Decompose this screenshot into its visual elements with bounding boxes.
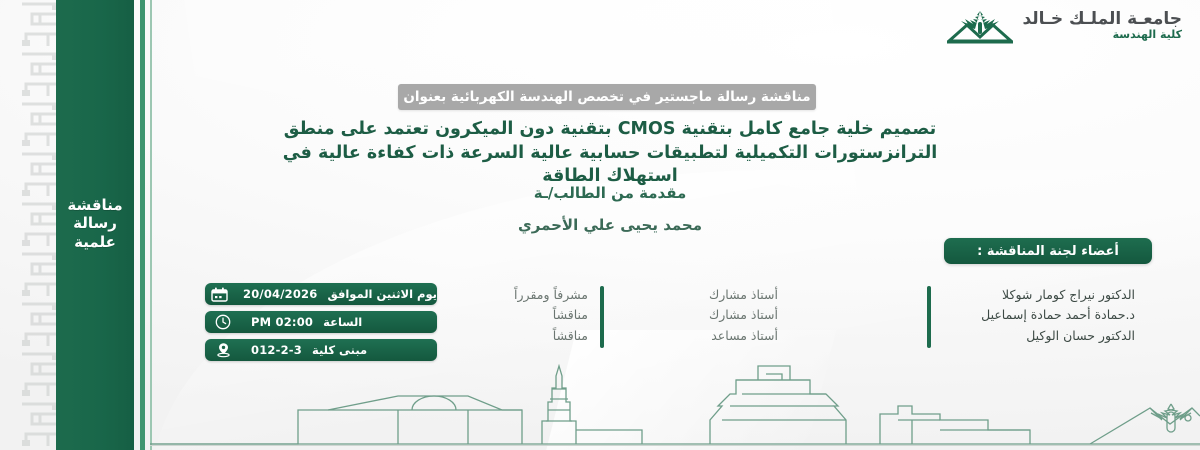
- time-pill-label: الساعة: [323, 315, 362, 329]
- committee-member-role: مشرفاً ومقرراً: [460, 285, 588, 305]
- committee-member-role: مناقشاً: [460, 326, 588, 346]
- left-rail: مناقشة رسالة علمية: [0, 0, 170, 450]
- committee-member-rank: أستاذ مشارك: [658, 285, 778, 305]
- date-pill: يوم الاثنين الموافق 20/04/2026: [205, 283, 437, 305]
- committee-member-name: الدكتور حسان الوكيل: [935, 326, 1135, 346]
- palm-tree-emblem-icon: [947, 8, 1013, 44]
- event-banner: مناقشة رسالة ماجستير في تخصص الهندسة الك…: [398, 84, 816, 110]
- city-skyline-decoration: [150, 358, 1200, 450]
- university-logo: جامعـة الملـك خـالد كلية الهندسة: [947, 8, 1182, 44]
- location-pill-text: مبنى كلية 012-2-3: [241, 343, 437, 357]
- committee-names-list: الدكتور نيراج كومار شوكلا د.حمادة أحمد ح…: [935, 285, 1135, 346]
- committee-member-name: د.حمادة أحمد حمادة إسماعيل: [935, 305, 1135, 325]
- university-name: جامعـة الملـك خـالد: [1022, 10, 1182, 30]
- footer-rule: [150, 445, 1200, 446]
- rail-title-line-1: مناقشة: [56, 196, 134, 214]
- college-name: كلية الهندسة: [1022, 29, 1182, 42]
- student-label: مقدمة من الطالب/ـة: [430, 184, 790, 202]
- time-pill-value: 02:00 PM: [251, 315, 313, 329]
- clock-icon: [205, 314, 241, 330]
- date-pill-label: يوم الاثنين الموافق: [327, 287, 437, 301]
- committee-ranks-list: أستاذ مشارك أستاذ مشارك أستاذ مساعد: [658, 285, 778, 346]
- student-name: محمد يحيى علي الأحمري: [430, 216, 790, 234]
- date-pill-text: يوم الاثنين الموافق 20/04/2026: [233, 287, 437, 301]
- time-pill: الساعة 02:00 PM: [205, 311, 437, 333]
- calendar-icon: [205, 287, 233, 302]
- location-pin-icon: [205, 342, 241, 358]
- committee-member-rank: أستاذ مساعد: [658, 326, 778, 346]
- location-pill-label: مبنى كلية: [312, 343, 367, 357]
- committee-roles-divider: [600, 286, 604, 348]
- rail-accent-line-thick: [140, 0, 145, 450]
- committee-roles-list: مشرفاً ومقرراً مناقشاً مناقشاً: [460, 285, 588, 346]
- event-details-pills: يوم الاثنين الموافق 20/04/2026 الساعة 02…: [205, 283, 437, 367]
- rail-vertical-title: مناقشة رسالة علمية: [56, 196, 134, 251]
- committee-member-role: مناقشاً: [460, 305, 588, 325]
- logo-wordmark: جامعـة الملـك خـالد كلية الهندسة: [1022, 10, 1182, 42]
- date-pill-value: 20/04/2026: [243, 287, 317, 301]
- thesis-title: تصميم خلية جامع كامل بتقنية CMOS بتقنية …: [250, 118, 970, 189]
- committee-badge: أعضاء لجنة المناقشة :: [944, 238, 1152, 264]
- committee-member-name: الدكتور نيراج كومار شوكلا: [935, 285, 1135, 305]
- seminar-poster: مناقشة رسالة علمية جامعـة الملـك خـالد ك…: [0, 0, 1200, 450]
- rail-title-line-3: علمية: [56, 233, 134, 251]
- time-pill-text: الساعة 02:00 PM: [241, 315, 437, 329]
- rail-title-line-2: رسالة: [56, 214, 134, 232]
- location-pill-value: 012-2-3: [251, 343, 302, 357]
- committee-member-rank: أستاذ مشارك: [658, 305, 778, 325]
- committee-names-divider: [927, 286, 931, 348]
